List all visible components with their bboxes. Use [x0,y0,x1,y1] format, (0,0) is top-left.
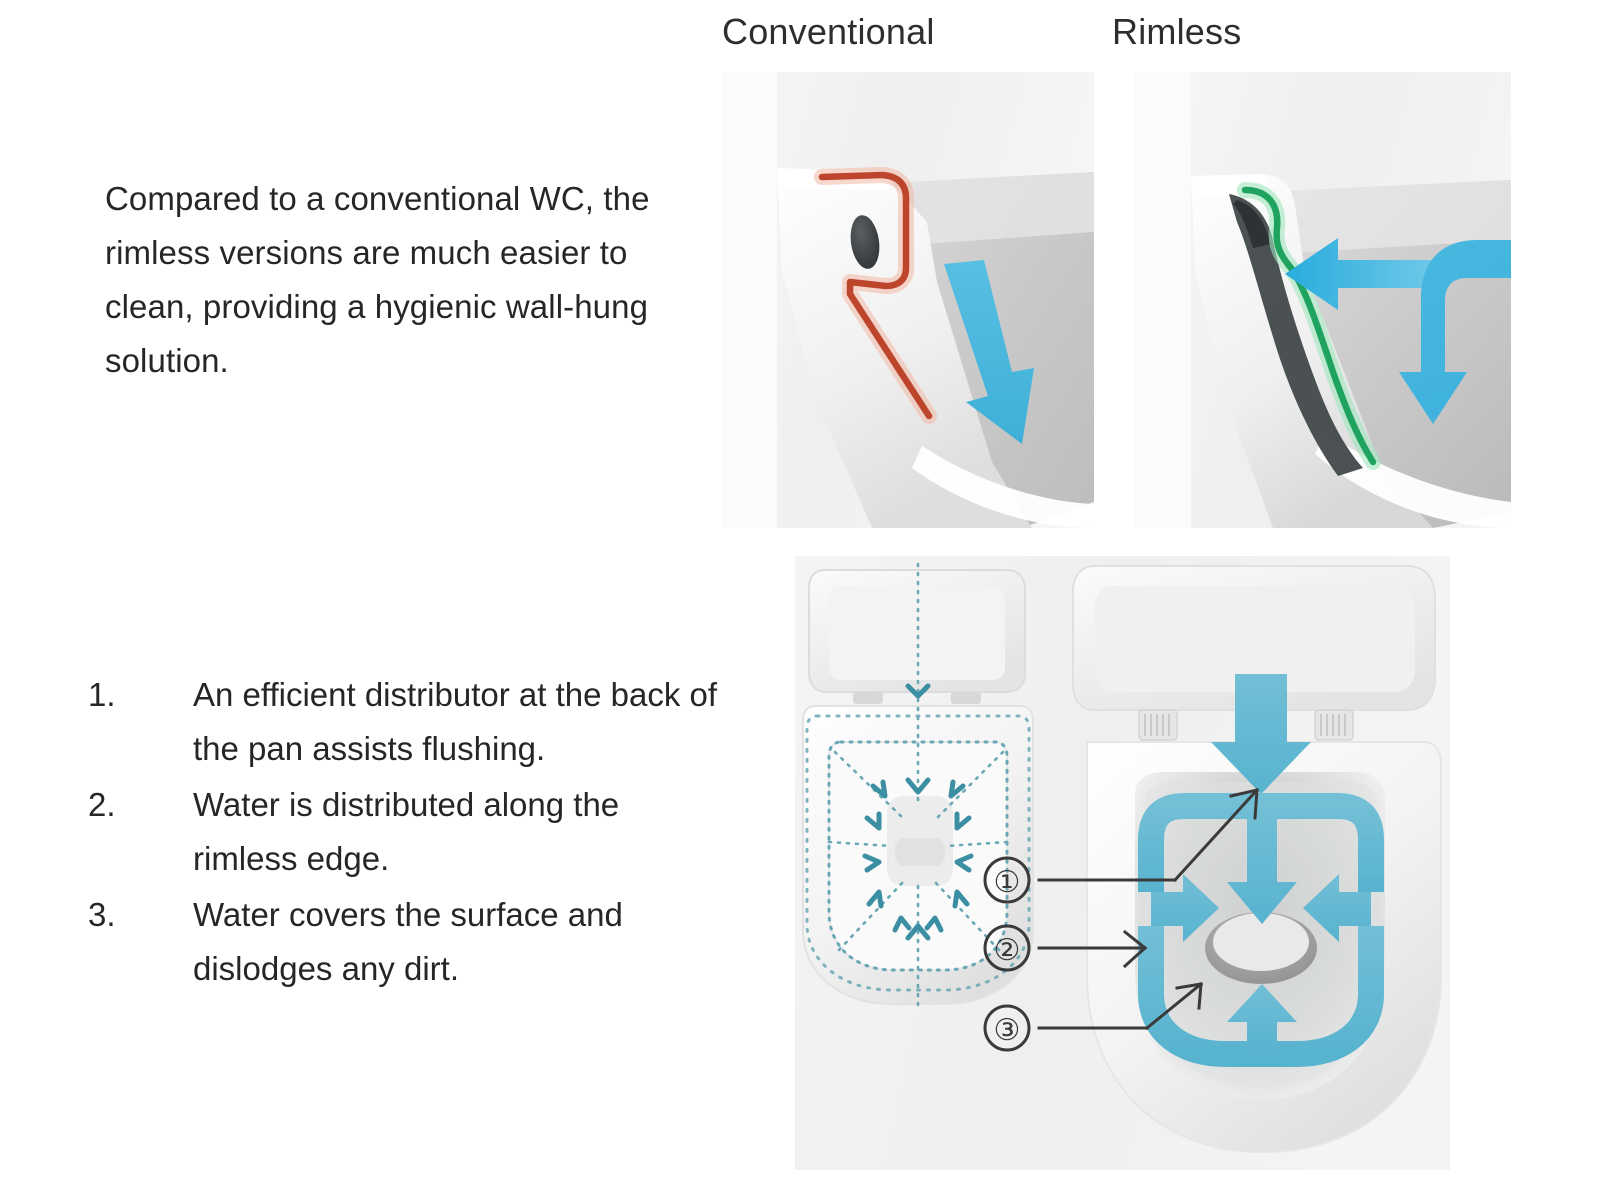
rimless-wc-svg [1133,72,1511,528]
numbered-steps-list: 1. An efficient distributor at the back … [88,668,718,998]
panel-heading-conventional: Conventional [722,10,935,54]
hinge-right [951,692,981,704]
callout-3-label: ③ [994,1014,1021,1047]
hinge-left [853,692,883,704]
list-item: 3. Water covers the surface and dislodge… [88,888,718,996]
list-item-text: An efficient distributor at the back of … [193,668,718,776]
rimless-wc-illustration [1133,72,1511,528]
list-item: 2. Water is distributed along the rimles… [88,778,718,886]
drain-top-view [895,838,945,866]
conventional-wc-svg [722,72,1094,528]
list-item-number: 3. [88,888,193,942]
panel-heading-rimless: Rimless [1112,10,1241,54]
flush-flow-svg: ① ② ③ [795,556,1450,1170]
intro-paragraph: Compared to a conventional WC, the rimle… [105,172,725,388]
outer-wall [722,72,777,528]
list-item-text: Water is distributed along the rimless e… [193,778,718,886]
callout-2-label: ② [994,934,1021,967]
list-item-number: 1. [88,668,193,722]
list-item: 1. An efficient distributor at the back … [88,668,718,776]
list-item-number: 2. [88,778,193,832]
list-item-text: Water covers the surface and dislodges a… [193,888,718,996]
outer-wall [1133,72,1191,528]
callout-1-label: ① [994,866,1021,899]
flush-flow-illustration: ① ② ③ [795,556,1450,1170]
conventional-wc-illustration [722,72,1094,528]
